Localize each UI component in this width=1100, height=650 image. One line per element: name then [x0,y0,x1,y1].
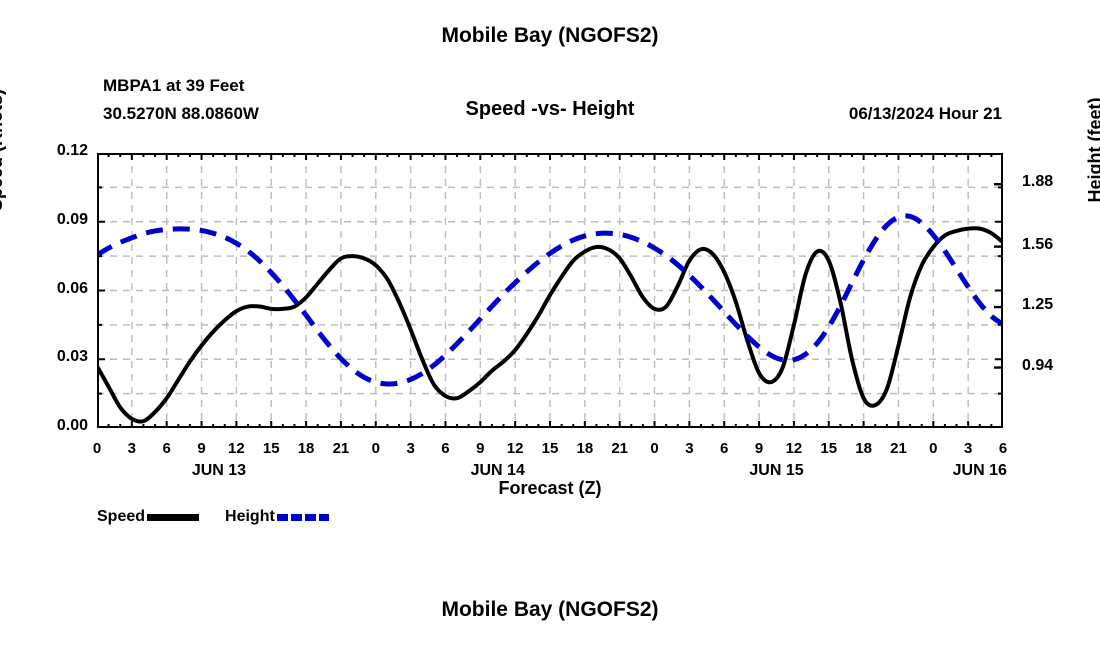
station-label: MBPA1 at 39 Feet [103,76,244,96]
y-axis-left-tick-label: 0.12 [57,142,88,160]
y-axis-right-tick-label: 0.94 [1022,357,1053,375]
x-axis-tick-label: 0 [918,440,948,457]
x-axis-day-label: JUN 16 [920,462,1040,480]
y-axis-right-tick-label: 1.88 [1022,173,1053,191]
legend-entry-speed: Speed [97,508,225,526]
x-axis-tick-label: 12 [779,440,809,457]
plot-area [97,153,1003,428]
x-axis-tick-label: 0 [82,440,112,457]
y-axis-right-tick-label: 1.56 [1022,236,1053,254]
x-axis-tick-label: 15 [814,440,844,457]
x-axis-tick-label: 9 [744,440,774,457]
x-axis-tick-label: 12 [500,440,530,457]
legend-label-speed: Speed [97,508,145,526]
page-title: Mobile Bay (NGOFS2) [0,24,1100,48]
x-axis-tick-label: 6 [430,440,460,457]
x-axis-tick-label: 6 [709,440,739,457]
x-axis-tick-label: 21 [326,440,356,457]
chart-canvas [97,153,1003,428]
legend-entry-height: Height [225,508,355,526]
x-axis-tick-label: 6 [988,440,1018,457]
x-axis-tick-label: 15 [256,440,286,457]
x-axis-tick-label: 3 [396,440,426,457]
y-axis-right-tick-label: 1.25 [1022,296,1053,314]
x-axis-tick-label: 3 [953,440,983,457]
y-axis-left-tick-label: 0.06 [57,280,88,298]
legend-swatch-speed [147,514,199,521]
x-axis-tick-label: 9 [187,440,217,457]
x-axis-tick-label: 3 [674,440,704,457]
y-axis-left-tick-label: 0.09 [57,211,88,229]
x-axis-tick-label: 0 [640,440,670,457]
x-axis-tick-label: 21 [605,440,635,457]
x-axis-tick-label: 12 [221,440,251,457]
legend: Speed Height [97,508,355,526]
x-axis-day-label: JUN 14 [438,462,558,480]
legend-swatch-height [277,514,329,521]
model-run-label: 06/13/2024 Hour 21 [849,104,1002,124]
page-footer-title: Mobile Bay (NGOFS2) [0,598,1100,622]
x-axis-tick-label: 15 [535,440,565,457]
x-axis-tick-label: 3 [117,440,147,457]
legend-label-height: Height [225,508,275,526]
x-axis-day-label: JUN 15 [717,462,837,480]
gridlines [97,153,1003,428]
x-axis-tick-label: 18 [849,440,879,457]
x-axis-tick-label: 9 [465,440,495,457]
x-axis-tick-label: 21 [883,440,913,457]
y-axis-left-title: Speed (Knots) [0,10,7,290]
x-axis-tick-label: 18 [291,440,321,457]
y-axis-left-tick-label: 0.00 [57,417,88,435]
x-axis-tick-label: 0 [361,440,391,457]
y-axis-right-title: Height (feet) [1085,10,1100,290]
x-axis-title: Forecast (Z) [97,478,1003,499]
x-axis-tick-label: 18 [570,440,600,457]
x-axis-day-label: JUN 13 [159,462,279,480]
y-axis-left-tick-label: 0.03 [57,348,88,366]
x-axis-tick-label: 6 [152,440,182,457]
